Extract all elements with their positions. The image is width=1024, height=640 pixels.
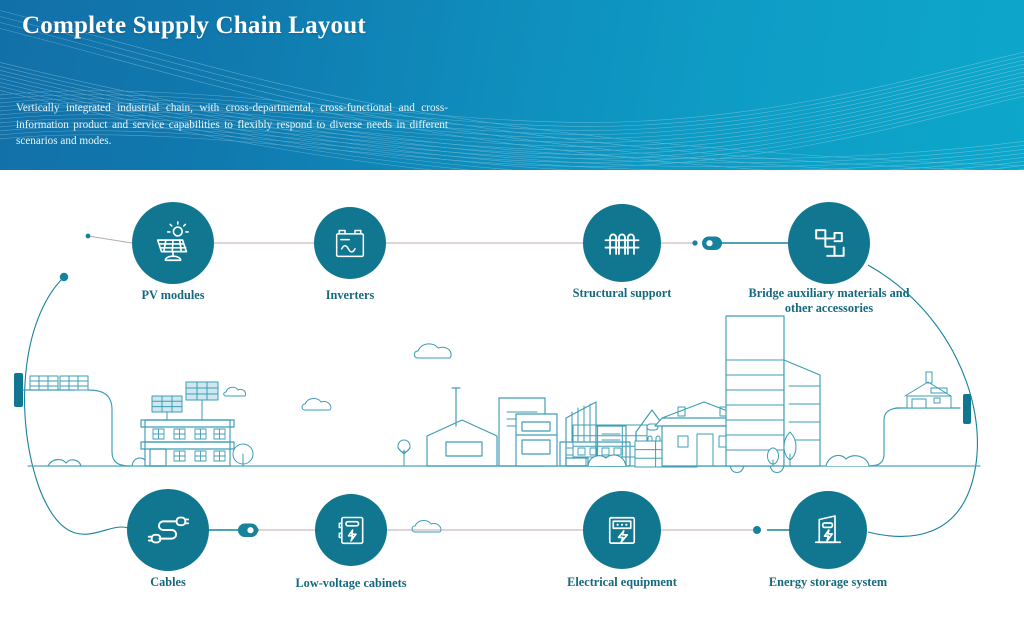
cable-plug-icon [145, 507, 191, 553]
inverters-label: Inverters [280, 288, 420, 303]
structural-support-circle[interactable] [583, 204, 661, 282]
arc-start-dot-left [60, 273, 68, 281]
top-connector-dot-left [86, 234, 91, 239]
supply-chain-diagram: PV modules Inverters [0, 170, 1024, 640]
bottom-connector-dot-b [753, 526, 761, 534]
bottom-plug-connector [207, 524, 258, 538]
top-connector-dot [692, 240, 697, 245]
pv-modules-circle[interactable] [132, 202, 214, 284]
inverter-icon [330, 223, 370, 263]
electrical-equipment-circle[interactable] [583, 491, 661, 569]
structural-support-icon [600, 221, 644, 265]
slide-root: Complete Supply Chain Layout Vertically … [0, 0, 1024, 640]
low-voltage-cabinets-label: Low-voltage cabinets [271, 576, 431, 591]
cabinet-bolt-icon [331, 510, 371, 550]
energy-storage-label: Energy storage system [738, 575, 918, 590]
energy-storage-circle[interactable] [789, 491, 867, 569]
cables-circle[interactable] [127, 489, 209, 571]
bridge-bracket-icon [807, 221, 851, 265]
header-banner: Complete Supply Chain Layout Vertically … [0, 0, 1024, 170]
cables-label: Cables [98, 575, 238, 590]
top-plug-connector [702, 237, 790, 251]
page-title: Complete Supply Chain Layout [22, 12, 366, 40]
electrical-equipment-label: Electrical equipment [532, 575, 712, 590]
bridge-auxiliary-circle[interactable] [788, 202, 870, 284]
structural-support-label: Structural support [532, 286, 712, 301]
electrical-panel-icon [601, 509, 643, 551]
page-subtitle: Vertically integrated industrial chain, … [16, 100, 448, 150]
inverters-circle[interactable] [314, 207, 386, 279]
energy-storage-icon [807, 509, 849, 551]
bridge-auxiliary-label: Bridge auxiliary materials and other acc… [733, 286, 925, 315]
solar-panel-icon [150, 220, 196, 266]
pv-modules-label: PV modules [93, 288, 253, 303]
low-voltage-cabinets-circle[interactable] [315, 494, 387, 566]
